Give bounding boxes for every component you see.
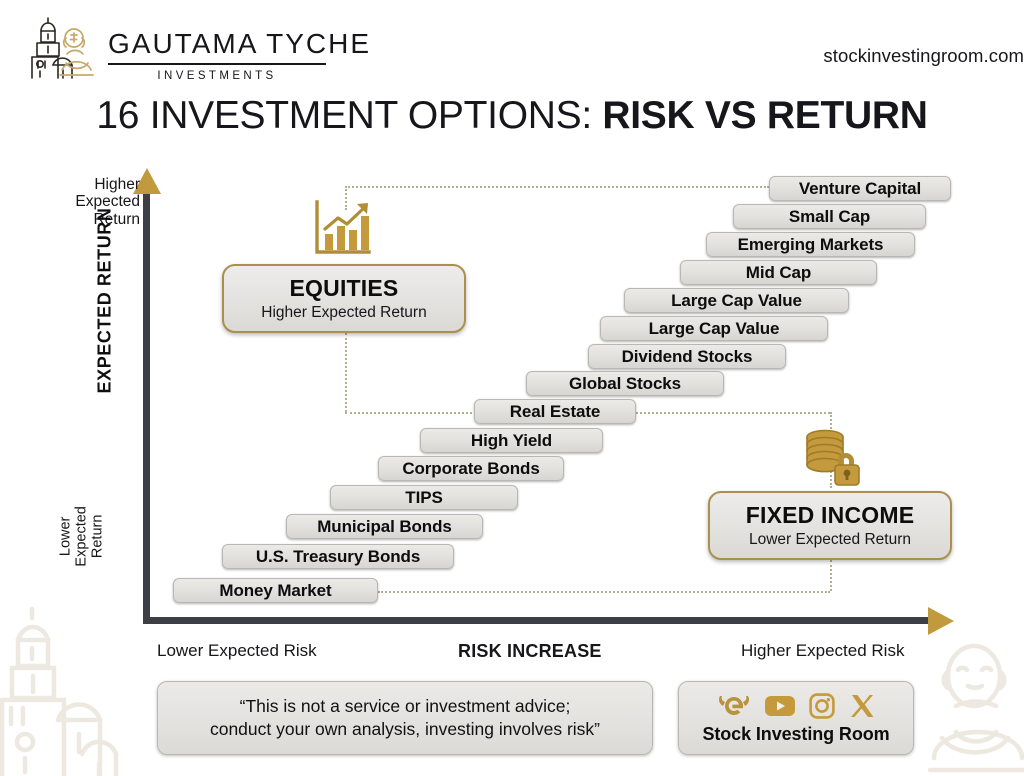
callout-equities[interactable]: EQUITIES Higher Expected Return xyxy=(222,264,466,333)
callout-fixed-income-title: FIXED INCOME xyxy=(746,503,915,528)
step-pill[interactable]: U.S. Treasury Bonds xyxy=(222,544,454,569)
step-pill-label: Municipal Bonds xyxy=(317,517,452,537)
step-pill[interactable]: Large Cap Value xyxy=(600,316,828,341)
callout-fixed-income-subtitle: Lower Expected Return xyxy=(749,531,911,548)
callout-fixed-income[interactable]: FIXED INCOME Lower Expected Return xyxy=(708,491,952,560)
step-pill-label: Large Cap Value xyxy=(671,291,802,311)
youtube-icon[interactable] xyxy=(765,695,795,717)
step-pill-label: Global Stocks xyxy=(569,374,681,394)
bull-e-logo-icon[interactable] xyxy=(717,693,751,719)
step-pill[interactable]: Large Cap Value xyxy=(624,288,849,313)
social-icon-row xyxy=(717,691,875,721)
step-pill-label: Mid Cap xyxy=(746,263,811,283)
x-twitter-icon[interactable] xyxy=(849,693,875,719)
step-pill-label: Money Market xyxy=(219,581,331,601)
step-pill-label: TIPS xyxy=(405,488,442,508)
step-pill[interactable]: TIPS xyxy=(330,485,518,510)
infographic-canvas: GAUTAMA TYCHE INVESTMENTS stockinvesting… xyxy=(0,0,1024,769)
disclaimer-box: “This is not a service or investment adv… xyxy=(157,681,653,755)
social-card: Stock Investing Room xyxy=(678,681,914,755)
callout-equities-title: EQUITIES xyxy=(290,276,399,301)
step-pill[interactable]: High Yield xyxy=(420,428,603,453)
step-pill-label: Venture Capital xyxy=(799,179,921,199)
disclaimer-line-2: conduct your own analysis, investing inv… xyxy=(210,718,600,741)
step-pill[interactable]: Emerging Markets xyxy=(706,232,915,257)
instagram-icon[interactable] xyxy=(809,693,835,719)
step-pill[interactable]: Small Cap xyxy=(733,204,926,229)
step-pill[interactable]: Money Market xyxy=(173,578,378,603)
step-pill[interactable]: Municipal Bonds xyxy=(286,514,483,539)
step-pill[interactable]: Dividend Stocks xyxy=(588,344,786,369)
social-handle: Stock Investing Room xyxy=(702,724,889,745)
step-pill-label: Real Estate xyxy=(510,402,601,422)
step-pill[interactable]: Mid Cap xyxy=(680,260,877,285)
step-pill[interactable]: Venture Capital xyxy=(769,176,951,201)
step-pill[interactable]: Real Estate xyxy=(474,399,636,424)
disclaimer-line-1: “This is not a service or investment adv… xyxy=(240,695,571,718)
investment-staircase: Venture CapitalSmall CapEmerging Markets… xyxy=(0,0,1024,769)
bar-chart-growth-icon xyxy=(312,198,378,263)
step-pill-label: Corporate Bonds xyxy=(402,459,539,479)
step-pill-label: Small Cap xyxy=(789,207,870,227)
callout-equities-subtitle: Higher Expected Return xyxy=(261,304,426,321)
step-pill-label: Large Cap Value xyxy=(649,319,780,339)
step-pill-label: High Yield xyxy=(471,431,552,451)
coins-with-lock-icon xyxy=(800,428,862,491)
step-pill[interactable]: Global Stocks xyxy=(526,371,724,396)
step-pill-label: U.S. Treasury Bonds xyxy=(256,547,420,567)
step-pill-label: Emerging Markets xyxy=(738,235,884,255)
step-pill-label: Dividend Stocks xyxy=(622,347,753,367)
step-pill[interactable]: Corporate Bonds xyxy=(378,456,564,481)
